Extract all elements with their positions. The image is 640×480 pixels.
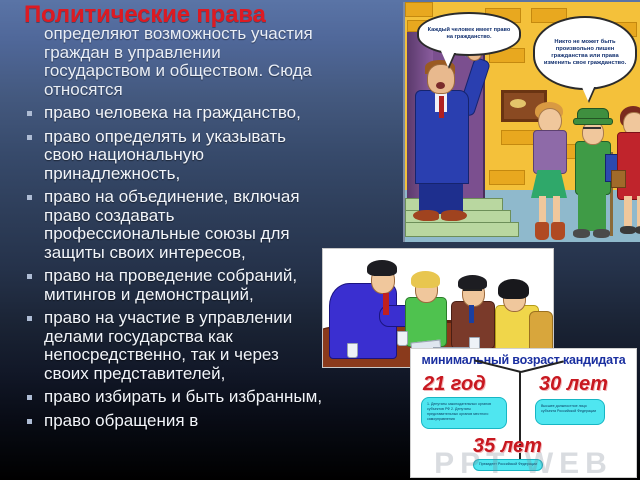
age-value-left: 21 год xyxy=(423,373,486,396)
list-item-label: право избирать и быть избранным, xyxy=(44,387,322,406)
comic-citizenship-image: Каждый человек имеет право на гражданств… xyxy=(403,2,640,242)
glasses-icon xyxy=(583,127,601,134)
brick-shape xyxy=(489,170,525,185)
list-item: право человека на гражданство, xyxy=(0,104,330,123)
brick-shape xyxy=(405,2,433,17)
chart-title: минимальный возраст кандидата xyxy=(411,353,636,367)
speech-bubble-tail-icon xyxy=(441,51,455,67)
intro-paragraph: определяют возможность участия граждан в… xyxy=(0,25,330,99)
list-item: право избирать и быть избранным, xyxy=(0,388,330,407)
cup-icon xyxy=(347,343,358,358)
speaker-mouth xyxy=(436,82,445,89)
person-hair xyxy=(498,279,529,299)
woman-dress xyxy=(617,132,640,200)
age-note-left: 1. Депутаты законодательных органов субъ… xyxy=(421,397,507,429)
list-item: право на проведение собраний, митингов и… xyxy=(0,267,330,304)
person-hair xyxy=(367,260,397,276)
candidate-age-chart-image: минимальный возраст кандидата 21 год 30 … xyxy=(410,348,637,478)
woman-leg xyxy=(624,196,632,228)
girl-boot xyxy=(551,222,565,240)
list-item: право на участие в управлении делами гос… xyxy=(0,309,330,383)
bullet-square-icon xyxy=(27,274,32,279)
step-shape xyxy=(405,222,519,237)
slide-text-column: Политические права определяют возможност… xyxy=(0,2,330,480)
speaker-shoe xyxy=(413,210,439,221)
list-item-label: право определять и указывать свою национ… xyxy=(44,127,286,183)
speech-bubble-left: Каждый человек имеет право на гражданств… xyxy=(417,12,521,56)
speech-bubble-right: Никто не может быть произвольно лишен гр… xyxy=(533,16,637,90)
woman-handbag xyxy=(611,170,626,188)
list-item: право определять и указывать свою национ… xyxy=(0,128,330,184)
speaker-head xyxy=(427,64,455,94)
person-hair xyxy=(411,271,440,288)
speech-bubble-tail-icon xyxy=(581,85,595,101)
list-item-label: право на проведение собраний, митингов и… xyxy=(44,266,297,304)
list-item-label: право на участие в управлении делами гос… xyxy=(44,308,292,383)
age-value-bottom: 35 лет xyxy=(473,435,542,458)
bullet-square-icon xyxy=(27,111,32,116)
list-item: право обращения в xyxy=(0,412,330,431)
rights-bullet-list: право человека на гражданство, право опр… xyxy=(0,104,330,430)
cup-icon xyxy=(397,331,408,346)
list-item: право на объединение, включая право созд… xyxy=(0,188,330,262)
list-item-label: право на объединение, включая право созд… xyxy=(44,187,300,262)
list-item-label: право человека на гражданство, xyxy=(44,103,301,122)
age-value-right: 30 лет xyxy=(539,373,608,396)
man-shoe xyxy=(593,229,610,238)
age-note-right: Высшее должностное лицо субъекта Российс… xyxy=(535,399,605,425)
woman-shoe xyxy=(620,226,636,234)
bullet-square-icon xyxy=(27,135,32,140)
girl-boot xyxy=(535,222,549,240)
man-shoe xyxy=(573,229,590,238)
speaker-shoe xyxy=(441,210,467,221)
speech-bubble-right-text: Никто не может быть произвольно лишен гр… xyxy=(541,39,629,66)
bullet-square-icon xyxy=(27,195,32,200)
person-hair xyxy=(458,275,487,290)
glasses-icon xyxy=(463,289,482,295)
person-body xyxy=(405,297,447,347)
bullet-square-icon xyxy=(27,395,32,400)
man-legs xyxy=(578,191,606,231)
presentation-slide: Политические права определяют возможност… xyxy=(0,0,640,480)
girl-body xyxy=(533,130,567,174)
speaker-tie xyxy=(439,96,444,118)
bullet-square-icon xyxy=(27,316,32,321)
person-tie xyxy=(469,305,474,323)
speech-bubble-left-text: Каждый человек имеет право на гражданств… xyxy=(425,27,513,40)
man-hat-brim xyxy=(573,118,613,125)
age-note-bottom: Президент Российской Федерации xyxy=(473,459,543,471)
list-item-label: право обращения в xyxy=(44,411,198,430)
brick-shape xyxy=(501,130,537,145)
woman-shoe xyxy=(635,226,640,234)
bullet-square-icon xyxy=(27,419,32,424)
person-tie xyxy=(383,293,389,315)
